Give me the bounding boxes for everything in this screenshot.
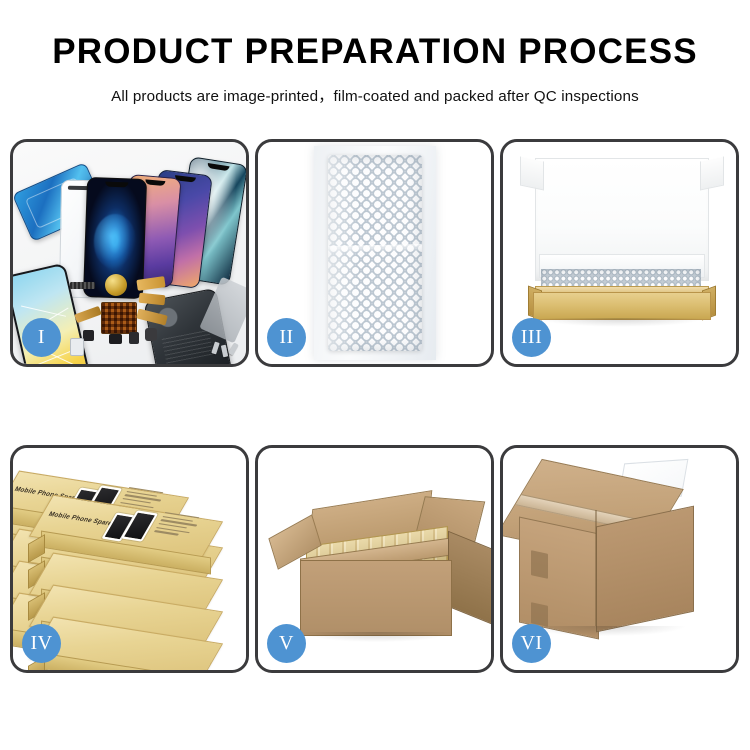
spare-part-battery: [70, 338, 84, 356]
step-badge-5: V: [267, 624, 306, 663]
spare-part-chip-grid: [101, 302, 137, 334]
carton-front-face-graphic: [300, 560, 452, 636]
screws-graphic: [213, 342, 239, 358]
process-step-panel-2[interactable]: II: [255, 139, 494, 367]
process-step-panel-1[interactable]: I: [10, 139, 249, 367]
process-step-grid: I II III: [10, 139, 740, 673]
step-badge-6: VI: [512, 624, 551, 663]
carton-shadow: [302, 632, 452, 642]
sealed-carton-right-face-graphic: [596, 506, 694, 633]
page-title: PRODUCT PREPARATION PROCESS: [0, 34, 750, 71]
carton-corner-seam: [595, 510, 597, 626]
spare-part-module-a: [83, 330, 94, 341]
step-badge-4: IV: [22, 624, 61, 663]
carton-handle-tab-upper: [531, 550, 548, 579]
step-badge-1: I: [22, 318, 61, 357]
process-step-panel-3[interactable]: III: [500, 139, 739, 367]
spare-part-camera-module: [145, 328, 157, 341]
spare-part-module-c: [129, 332, 139, 344]
mailer-box-front-graphic: [533, 292, 711, 320]
process-step-panel-6[interactable]: VI: [500, 445, 739, 673]
process-step-panel-5[interactable]: V: [255, 445, 494, 673]
page-subtitle: All products are image-printed，film-coat…: [0, 84, 750, 106]
spare-part-connector-strip: [70, 282, 95, 289]
step-badge-2: II: [267, 318, 306, 357]
bubble-wrapped-product-graphic: [328, 155, 422, 351]
spare-part-module-b: [109, 334, 122, 344]
step-badge-3: III: [512, 318, 551, 357]
spare-part-coil: [105, 274, 127, 296]
mailer-box-shadow: [537, 318, 705, 327]
process-step-panel-4[interactable]: Mobile Phone Spare Parts Mobile Phone Sp…: [10, 445, 249, 673]
page-header: PRODUCT PREPARATION PROCESS All products…: [0, 0, 750, 106]
